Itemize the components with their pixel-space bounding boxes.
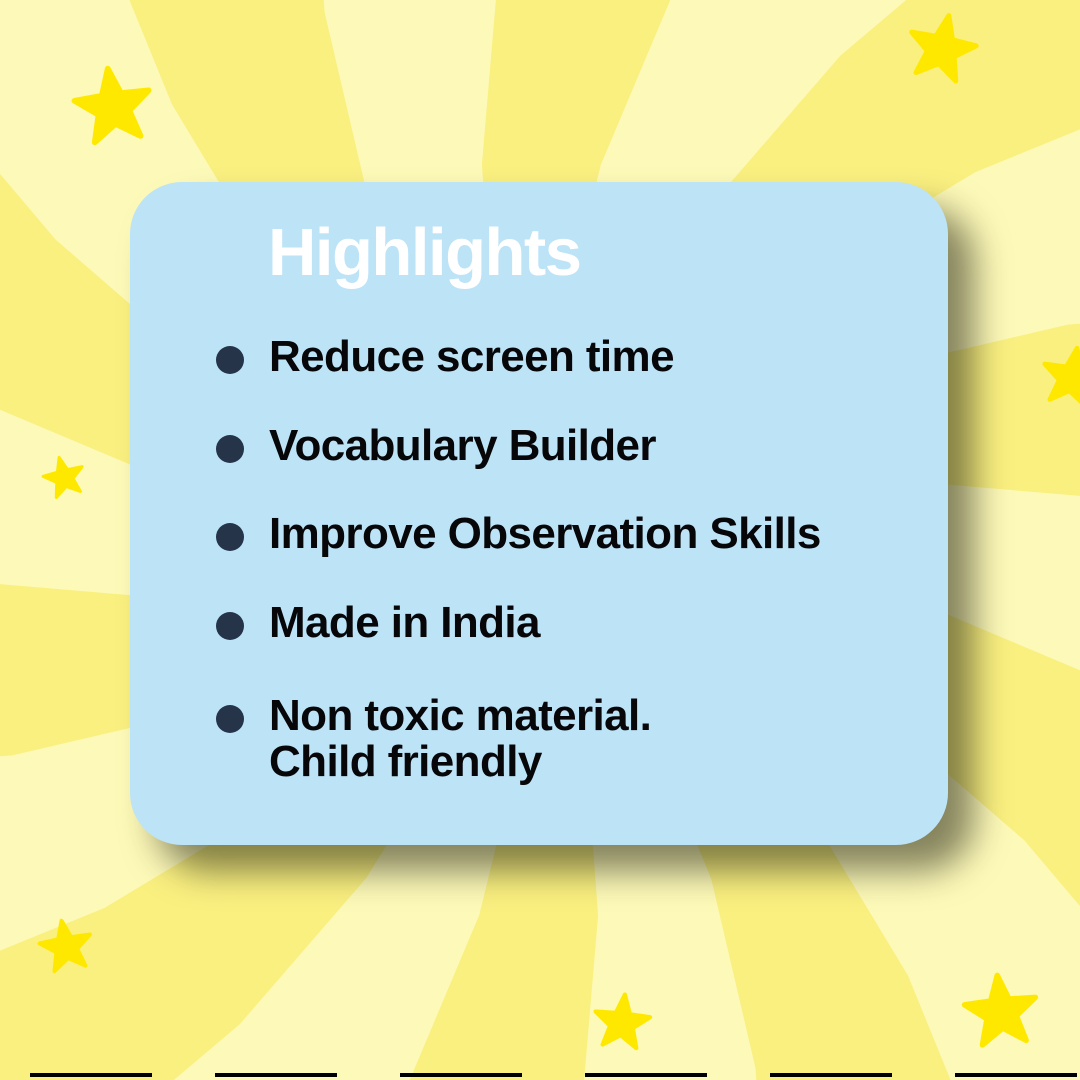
bottom-dash-strip [0,1074,1080,1080]
list-item: Made in India [216,600,928,647]
bottom-dash [400,1073,522,1077]
highlights-list: Reduce screen timeVocabulary BuilderImpr… [216,334,928,786]
list-item: Vocabulary Builder [216,423,928,470]
bullet-dot-icon [216,346,244,374]
list-item-label: Made in India [269,600,540,647]
bullet-dot-icon [216,523,244,551]
bottom-dash [215,1073,337,1077]
star-top-right-icon [899,5,984,90]
page-title: Highlights [268,219,581,286]
star-left-mid-icon [37,450,90,503]
bullet-dot-icon [216,612,244,640]
bullet-dot-icon [216,705,244,733]
list-item-label: Vocabulary Builder [269,423,656,470]
bullet-dot-icon [216,435,244,463]
star-top-left-icon [67,60,160,153]
list-item-label: Non toxic material. Child friendly [269,693,651,786]
list-item: Reduce screen time [216,334,928,381]
bottom-dash [770,1073,892,1077]
list-item: Improve Observation Skills [216,511,928,558]
star-bottom-center-icon [589,989,655,1055]
highlights-card: Highlights Reduce screen timeVocabulary … [130,182,948,845]
list-item: Non toxic material. Child friendly [216,693,928,786]
poster-canvas: Highlights Reduce screen timeVocabulary … [0,0,1080,1080]
bottom-dash [30,1073,152,1077]
star-right-mid-icon [1035,340,1080,414]
bottom-dash [585,1073,707,1077]
star-bottom-right-icon [958,968,1044,1054]
bottom-dash [955,1073,1077,1077]
list-item-label: Improve Observation Skills [269,511,821,558]
star-bottom-left-upper-icon [34,914,99,979]
list-item-label: Reduce screen time [269,334,674,381]
